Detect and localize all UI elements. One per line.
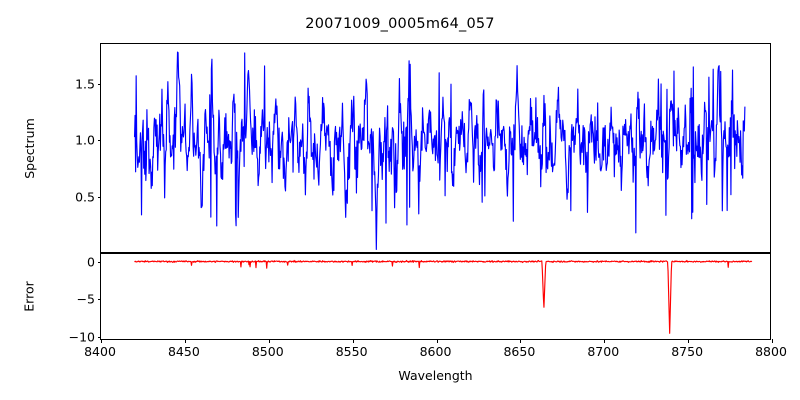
x-tick-label: 8700 bbox=[587, 344, 619, 359]
x-tick-mark bbox=[437, 339, 438, 343]
error-y-axis-label-wrap: Error bbox=[18, 253, 40, 340]
figure-title: 20071009_0005m64_057 bbox=[0, 16, 800, 32]
y-tick-mark bbox=[98, 337, 102, 338]
y-tick-label: 0 bbox=[87, 254, 95, 269]
x-tick-label: 8750 bbox=[671, 344, 703, 359]
x-tick-label: 8450 bbox=[168, 344, 200, 359]
y-tick-mark bbox=[98, 84, 102, 85]
y-tick-label: −10 bbox=[69, 329, 95, 344]
y-tick-label: 1.0 bbox=[75, 133, 95, 148]
error-y-axis-label: Error bbox=[22, 281, 37, 311]
x-axis-label: Wavelength bbox=[100, 368, 771, 383]
matplotlib-figure: 20071009_0005m64_057 0.51.01.5 Spectrum … bbox=[0, 0, 800, 400]
error-line bbox=[101, 254, 770, 339]
x-tick-mark bbox=[688, 339, 689, 343]
x-tick-mark bbox=[520, 339, 521, 343]
x-tick-label: 8500 bbox=[252, 344, 284, 359]
x-tick-label: 8550 bbox=[336, 344, 368, 359]
y-tick-mark bbox=[98, 140, 102, 141]
x-tick-mark bbox=[101, 339, 102, 343]
spectrum-y-axis-label-wrap: Spectrum bbox=[18, 43, 40, 253]
error-axes: 0−5−10 bbox=[100, 253, 771, 340]
y-tick-mark bbox=[98, 299, 102, 300]
x-tick-label: 8800 bbox=[755, 344, 787, 359]
error-trace bbox=[135, 260, 752, 333]
x-tick-mark bbox=[269, 339, 270, 343]
x-tick-mark bbox=[185, 339, 186, 343]
y-tick-label: 1.5 bbox=[75, 76, 95, 91]
y-tick-mark bbox=[98, 262, 102, 263]
spectrum-trace bbox=[135, 52, 745, 249]
x-tick-mark bbox=[604, 339, 605, 343]
error-plot-area bbox=[101, 254, 770, 339]
x-tick-label: 8400 bbox=[84, 344, 116, 359]
spectrum-axes: 0.51.01.5 bbox=[100, 43, 771, 253]
y-tick-label: 0.5 bbox=[75, 190, 95, 205]
x-tick-mark bbox=[772, 339, 773, 343]
y-tick-label: −5 bbox=[77, 292, 95, 307]
spectrum-y-axis-label: Spectrum bbox=[22, 118, 37, 179]
spectrum-plot-area bbox=[101, 44, 770, 252]
x-tick-mark bbox=[353, 339, 354, 343]
spectrum-line bbox=[101, 44, 770, 252]
x-tick-label: 8600 bbox=[420, 344, 452, 359]
x-tick-label: 8650 bbox=[503, 344, 535, 359]
y-tick-mark bbox=[98, 197, 102, 198]
